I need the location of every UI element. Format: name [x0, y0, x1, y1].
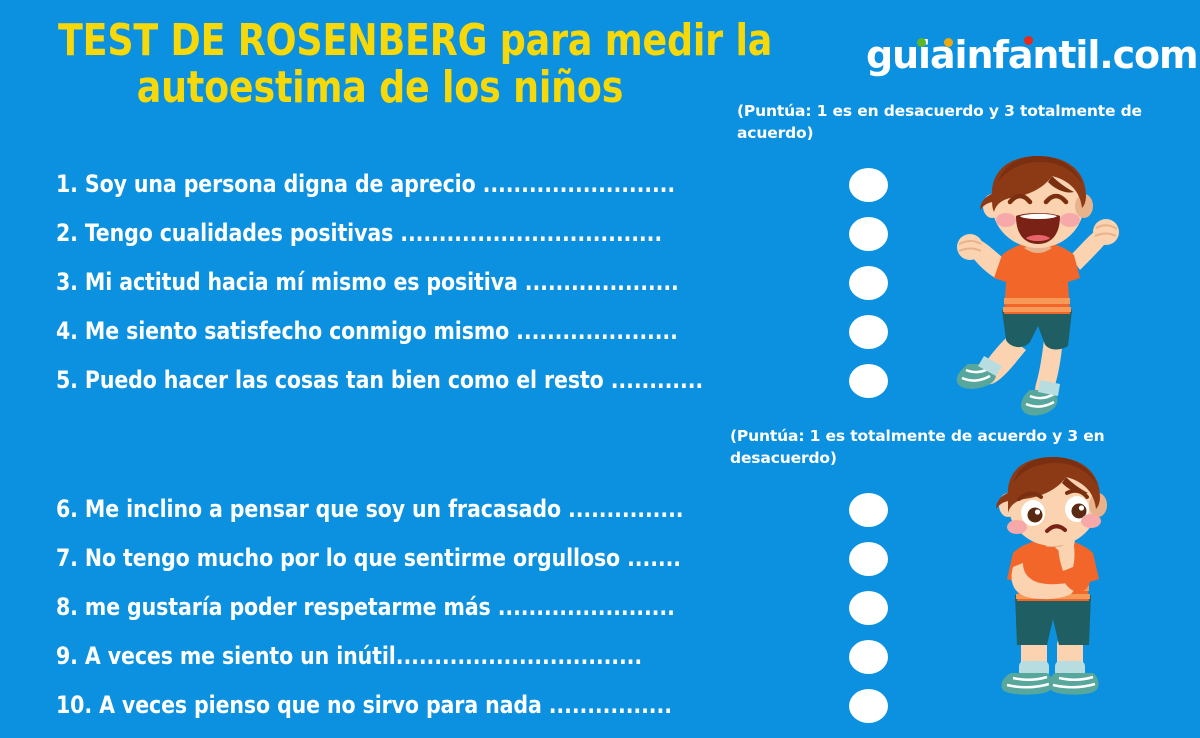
logo-yellow-dot-icon [944, 38, 953, 47]
question-row[interactable]: 4. Me siento satisfecho conmigo mismo ..… [0, 307, 910, 356]
question-text: 10. A veces pienso que no sirvo para nad… [56, 681, 672, 730]
answer-circle[interactable] [849, 640, 888, 674]
title-strong: TEST DE ROSENBERG [58, 15, 487, 66]
logo-green-dot-icon [917, 38, 926, 47]
title-line-1: TEST DE ROSENBERG para medir la [58, 18, 702, 65]
title-light: para medir la [487, 15, 772, 66]
page-title: TEST DE ROSENBERG para medir la autoesti… [30, 18, 730, 111]
answer-circle[interactable] [849, 493, 888, 527]
question-text: 6. Me inclino a pensar que soy un fracas… [56, 485, 683, 534]
answer-circle[interactable] [849, 217, 888, 251]
question-row[interactable]: 3. Mi actitud hacia mí mismo es positiva… [0, 258, 910, 307]
worried-boy-illustration [955, 455, 1185, 738]
happy-boy-illustration [940, 150, 1170, 420]
question-text: 7. No tengo mucho por lo que sentirme or… [56, 534, 681, 583]
answer-circle[interactable] [849, 266, 888, 300]
question-group-positive: 1. Soy una persona digna de aprecio ....… [0, 160, 910, 405]
answer-circle[interactable] [849, 315, 888, 349]
question-group-negative: 6. Me inclino a pensar que soy un fracas… [0, 485, 910, 730]
question-row[interactable]: 8. me gustaría poder respetarme más ....… [0, 583, 910, 632]
question-row[interactable]: 7. No tengo mucho por lo que sentirme or… [0, 534, 910, 583]
question-text: 2. Tengo cualidades positivas ..........… [56, 209, 662, 258]
logo-red-dot-icon [1024, 36, 1033, 45]
question-row[interactable]: 6. Me inclino a pensar que soy un fracas… [0, 485, 910, 534]
answer-circle[interactable] [849, 364, 888, 398]
question-text: 9. A veces me siento un inútil..........… [56, 632, 642, 681]
question-text: 4. Me siento satisfecho conmigo mismo ..… [56, 307, 678, 356]
answer-circle[interactable] [849, 689, 888, 723]
scoring-note-top: (Puntúa: 1 es en desacuerdo y 3 totalmen… [737, 100, 1197, 145]
question-text: 8. me gustaría poder respetarme más ....… [56, 583, 675, 632]
question-row[interactable]: 1. Soy una persona digna de aprecio ....… [0, 160, 910, 209]
question-row[interactable]: 2. Tengo cualidades positivas ..........… [0, 209, 910, 258]
answer-circle[interactable] [849, 542, 888, 576]
answer-circle[interactable] [849, 168, 888, 202]
question-text: 3. Mi actitud hacia mí mismo es positiva… [56, 258, 679, 307]
guiainfantil-logo[interactable]: guiainfantil.com [866, 30, 1198, 80]
answer-circle[interactable] [849, 591, 888, 625]
question-text: 1. Soy una persona digna de aprecio ....… [56, 160, 675, 209]
question-row[interactable]: 9. A veces me siento un inútil..........… [0, 632, 910, 681]
question-row[interactable]: 5. Puedo hacer las cosas tan bien como e… [0, 356, 910, 405]
poster-canvas: TEST DE ROSENBERG para medir la autoesti… [0, 0, 1200, 738]
title-line-2: autoestima de los niños [58, 65, 702, 112]
question-row[interactable]: 10. A veces pienso que no sirvo para nad… [0, 681, 910, 730]
question-text: 5. Puedo hacer las cosas tan bien como e… [56, 356, 703, 405]
